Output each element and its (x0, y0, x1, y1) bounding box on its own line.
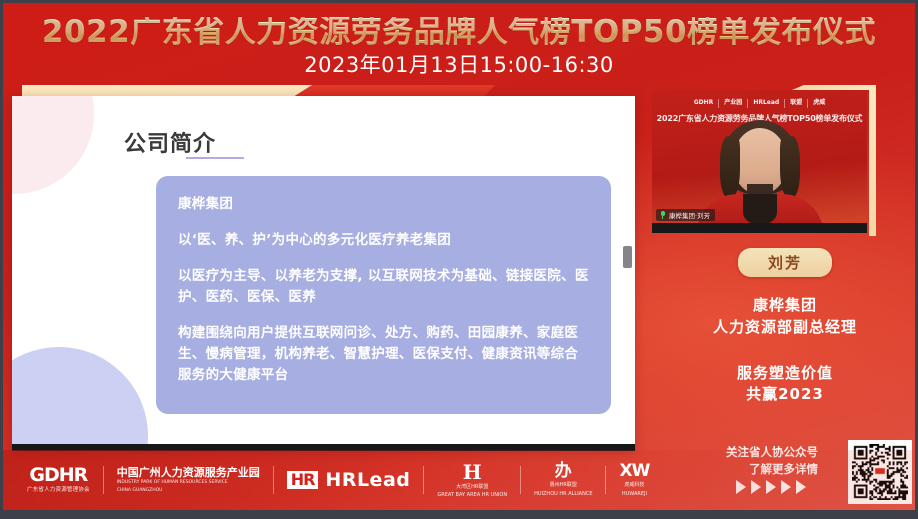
slide-content-box: 康桦集团 以‘医、养、护’为中心的多元化医疗养老集团 以医疗为主导、以养老为支撑… (156, 176, 611, 414)
event-datetime: 2023年01月13日15:00-16:30 (0, 55, 918, 76)
sponsor-huizhou-mark: 办 (555, 463, 572, 480)
presentation-slide[interactable]: 公司简介 康桦集团 以‘医、养、护’为中心的多元化医疗养老集团 以医疗为主导、以… (12, 96, 635, 451)
video-logo-2: HRLead (753, 100, 779, 106)
video-logo-1: 产业园 (724, 100, 742, 106)
slogan-line-1: 服务塑造价值 (652, 363, 918, 385)
slide-heading-underline (186, 157, 244, 159)
sponsor-hrlead-word: HRLead (325, 469, 410, 491)
content-heading: 康桦集团 (178, 194, 589, 215)
sponsor-huwareji-mark: XW (619, 463, 649, 480)
video-logo-0: GDHR (694, 100, 714, 106)
broadcast-stage: 2022广东省人力资源劳务品牌人气榜TOP50榜单发布仪式 2023年01月13… (0, 0, 918, 519)
event-title: 2022广东省人力资源劳务品牌人气榜TOP50榜单发布仪式 (0, 17, 918, 48)
sponsor-huizhou-sub2: HUIZHOU HR ALLIANCE (534, 491, 592, 497)
sponsor-logo-huwareji: XW 虎威科技 HUWAREJI (606, 463, 662, 497)
sponsor-greatbay-mark: H (463, 462, 482, 482)
event-banner: 2022广东省人力资源劳务品牌人气榜TOP50榜单发布仪式 2023年01月13… (0, 0, 918, 82)
content-line-1: 以‘医、养、护’为中心的多元化医疗养老集团 (178, 230, 589, 251)
presenter-collar (743, 194, 777, 224)
speaker-name-badge: 刘芳 (738, 248, 832, 277)
video-logo-4: 虎威 (813, 100, 825, 106)
video-logo-divider (747, 99, 748, 108)
participant-name-text: 康桦集团·刘芳 (669, 210, 710, 220)
sponsor-huwareji-sub2: HUWAREJI (622, 491, 647, 497)
video-logo-divider (718, 99, 719, 108)
video-logo-divider (807, 99, 808, 108)
content-line-2: 以医疗为主导、以养老为支撑, 以互联网技术为基础、链接医院、医护、医药、医保、医… (178, 266, 589, 308)
content-line-3: 构建围绕向用户提供互联网问诊、处方、购药、田园康养、家庭医生、慢病管理，机构养老… (178, 323, 589, 386)
sponsor-logo-gdhr: GDHR 广东省人力资源管理协会 (14, 466, 103, 494)
sponsor-park-mark: 中国广州人力资源服务产业园 (117, 467, 260, 478)
sponsor-gdhr-mark: GDHR (29, 466, 87, 485)
speaker-video-panel[interactable]: GDHR 产业园 HRLead 联盟 虎威 2022广东省人力资源劳务品牌人气榜… (652, 90, 867, 233)
speaker-company: 康桦集团 (652, 295, 918, 317)
presenter-hair-right (780, 136, 800, 198)
sponsor-hrlead-mark: HR (287, 471, 319, 490)
sponsor-logo-bar: GDHR 广东省人力资源管理协会 中国广州人力资源服务产业园 INDUSTRY … (0, 450, 918, 510)
microphone-icon (659, 211, 666, 219)
sponsor-gdhr-sub: 广东省人力资源管理协会 (27, 487, 90, 494)
sponsor-logo-greatbay: H 大湾区HR联盟 GREAT BAY AREA HR UNION (424, 462, 520, 499)
sponsor-logo-hrlead: HR HRLead (274, 469, 424, 491)
frame-edge-bottom (0, 510, 918, 519)
slogan-line-2: 共赢2023 (652, 384, 918, 406)
sponsor-huwareji-sub: 虎威科技 (624, 482, 644, 488)
decorative-circle-pink (12, 96, 94, 194)
speaker-info-sidebar: 刘芳 康桦集团 人力资源部副总经理 服务塑造价值 共赢2023 (652, 246, 918, 436)
sponsor-park-sub: INDUSTRY PARK OF HUMAN RESOURCES SERVICE (117, 480, 228, 486)
sponsor-huizhou-sub: 惠州HR联盟 (550, 482, 577, 488)
video-logo-divider (784, 99, 785, 108)
sponsor-logo-huizhou: 办 惠州HR联盟 HUIZHOU HR ALLIANCE (521, 463, 605, 497)
sponsor-logo-park: 中国广州人力资源服务产业园 INDUSTRY PARK OF HUMAN RES… (104, 467, 273, 493)
frame-edge-left (0, 0, 3, 519)
decorative-circle-lavender (12, 347, 148, 451)
sponsor-greatbay-sub2: GREAT BAY AREA HR UNION (437, 492, 507, 498)
sponsor-park-sub2: CHINA GUANGZHOU (117, 488, 163, 494)
video-logo-3: 联盟 (790, 100, 802, 106)
speaker-role: 人力资源部副总经理 (652, 317, 918, 339)
video-logo-strip: GDHR 产业园 HRLead 联盟 虎威 (652, 95, 867, 111)
participant-name-badge: 康桦集团·刘芳 (656, 209, 715, 221)
slide-heading: 公司简介 (124, 126, 216, 158)
video-bottom-bar (652, 223, 867, 233)
sponsor-greatbay-sub: 大湾区HR联盟 (456, 484, 488, 490)
frame-edge-top (0, 0, 918, 3)
video-gold-accent-side (869, 88, 876, 236)
presenter-hair-left (720, 136, 740, 198)
slide-scroll-handle[interactable] (623, 246, 632, 268)
